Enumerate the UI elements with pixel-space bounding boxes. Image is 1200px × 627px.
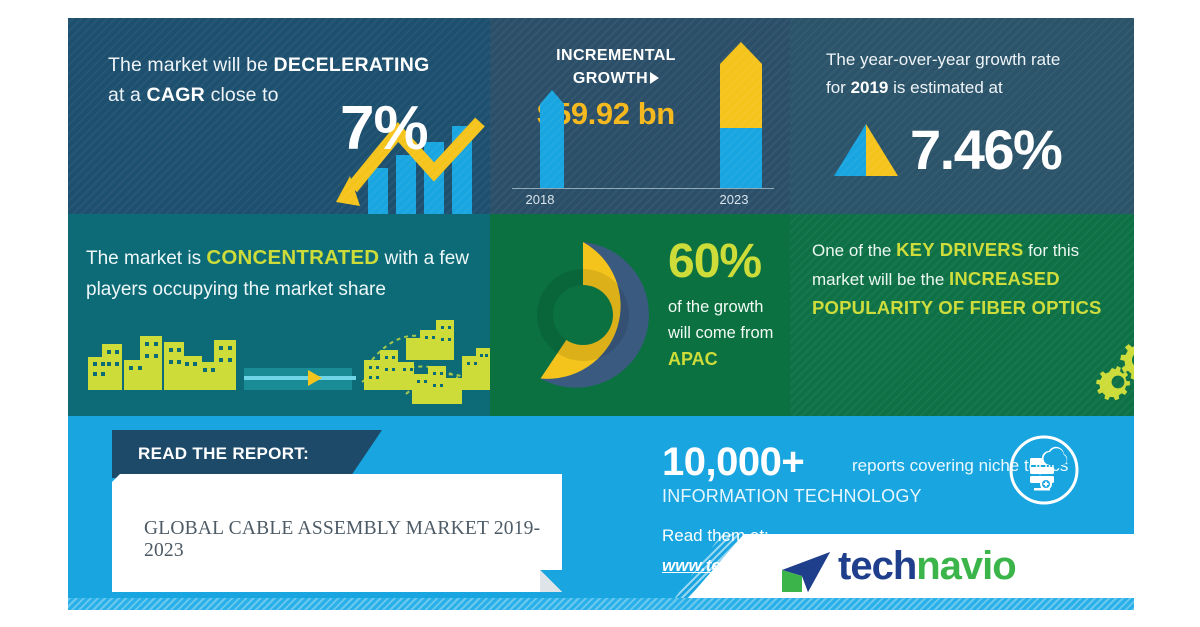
building-cluster-scattered [364,320,490,404]
axis-label-2018: 2018 [510,192,570,207]
row-middle: The market is CONCENTRATED with a few pl… [68,214,1134,416]
read-the-report-label: READ THE REPORT: [138,444,309,464]
footer-banner: READ THE REPORT: GLOBAL CABLE ASSEMBLY M… [68,416,1134,610]
drivers-text-bold1: KEY DRIVERS [896,239,1023,260]
panel-incremental-growth: INCREMENTAL GROWTH $59.92 bn 2018 2023 [490,18,790,214]
bar-2 [396,155,416,214]
page-fold-corner [540,570,562,592]
chart-axis-line [512,188,774,189]
paper-plane-icon [778,550,832,594]
axis-label-2023: 2023 [704,192,764,207]
report-title: GLOBAL CABLE ASSEMBLY MARKET 2019-2023 [144,518,544,562]
cagr-text-decelerating: DECELERATING [274,54,430,76]
read-the-report-tab[interactable]: READ THE REPORT: [112,430,382,478]
concentration-text-bold: CONCENTRATED [206,246,379,269]
concentration-text: The market is CONCENTRATED with a few pl… [86,242,486,305]
concentration-text-lead: The market is [86,248,206,269]
apac-donut-chart [504,236,662,394]
apac-percentage: 60% [668,238,761,286]
panel-yoy-growth: The year-over-year growth rate for 2019 … [790,18,1134,214]
cagr-text-tail: close to [205,84,279,106]
yoy-text-lead: The year-over-year growth rate [826,50,1060,69]
triangle-left-half [834,124,866,176]
bar-2018 [540,90,564,188]
apac-description: of the growth will come from APAC [668,294,790,373]
report-title-card[interactable]: GLOBAL CABLE ASSEMBLY MARKET 2019-2023 [112,474,562,592]
footer-stripe-decoration [68,598,1134,610]
reports-count: 10,000+ [662,442,804,482]
infographic-root: The market will be DECELERATING at a CAG… [68,18,1134,610]
apac-line2: will come from [668,324,773,342]
technavio-logo-text: technavio [838,546,1016,586]
yoy-value: 7.46% [910,122,1061,178]
donut-hole [553,285,613,345]
logo-text-tech: tech [838,544,916,588]
triangle-right-half [866,124,898,176]
market-consolidation-diagram [76,312,490,412]
flow-line-3 [322,376,356,380]
yoy-text-tail: is estimated at [888,78,1002,97]
panel-cagr: The market will be DECELERATING at a CAG… [68,18,490,214]
panel-key-drivers: One of the KEY DRIVERS for this market w… [790,214,1134,416]
triangle-up-icon [830,122,902,178]
bar-2023-base [720,128,762,188]
gears-icon [1096,332,1134,402]
panel-apac-share: 60% of the growth will come from APAC [490,214,790,416]
cagr-value: 7% [340,98,428,160]
apac-line1: of the growth [668,298,763,316]
incremental-growth-chart [512,38,774,190]
reports-category: INFORMATION TECHNOLOGY [662,486,922,507]
drivers-text-lead: One of the [812,241,896,260]
yoy-text-mid: for [826,78,851,97]
apac-region: APAC [668,349,718,369]
row-top: The market will be DECELERATING at a CAG… [68,18,1134,214]
yoy-text-year: 2019 [851,78,889,97]
drivers-text: One of the KEY DRIVERS for this market w… [812,236,1128,323]
cagr-text-lead: The market will be [108,54,274,76]
cloud-server-icon [1008,434,1080,506]
logo-text-navio: navio [916,544,1015,588]
cagr-text-cagr: CAGR [146,84,205,106]
panel-concentration: The market is CONCENTRATED with a few pl… [68,214,490,416]
bar-2023-increment [720,42,762,128]
cagr-text-mid: at a [108,84,146,106]
yoy-text: The year-over-year growth rate for 2019 … [826,46,1116,102]
